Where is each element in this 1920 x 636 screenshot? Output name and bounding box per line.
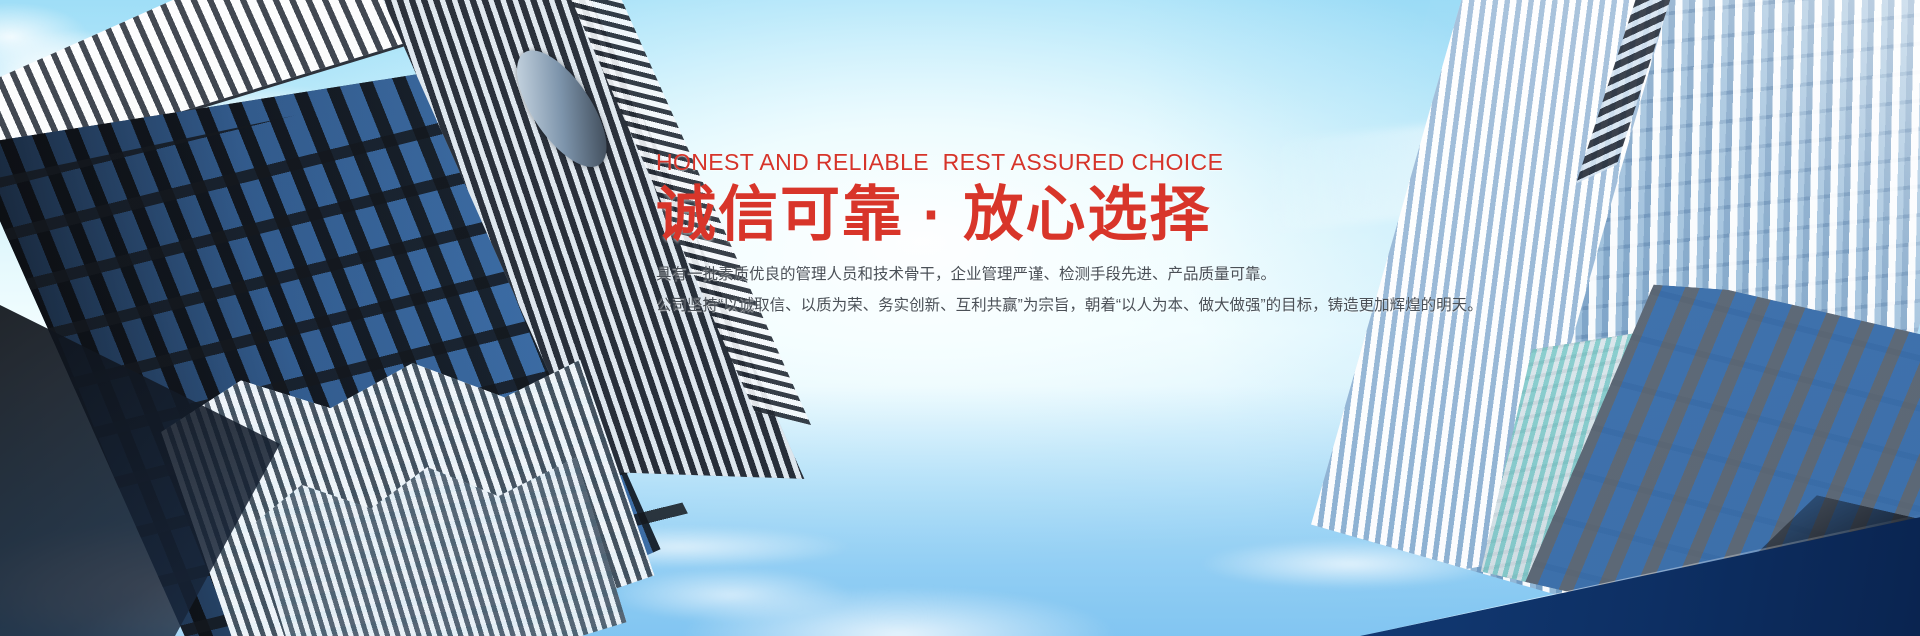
hero-banner: HONEST AND RELIABLE REST ASSURED CHOICE … [0,0,1920,636]
banner-copy: HONEST AND RELIABLE REST ASSURED CHOICE … [656,150,1476,321]
banner-body-line-2: 公司坚持“以诚取信、以质为荣、务实创新、互利共赢”为宗旨，朝着“以人为本、做大做… [656,291,1476,321]
banner-body-line-1: 具有一批素质优良的管理人员和技术骨干，企业管理严谨、检测手段先进、产品质量可靠。 [656,260,1476,290]
banner-eyebrow: HONEST AND RELIABLE REST ASSURED CHOICE [656,150,1476,175]
banner-headline: 诚信可靠 · 放心选择 [656,181,1476,248]
